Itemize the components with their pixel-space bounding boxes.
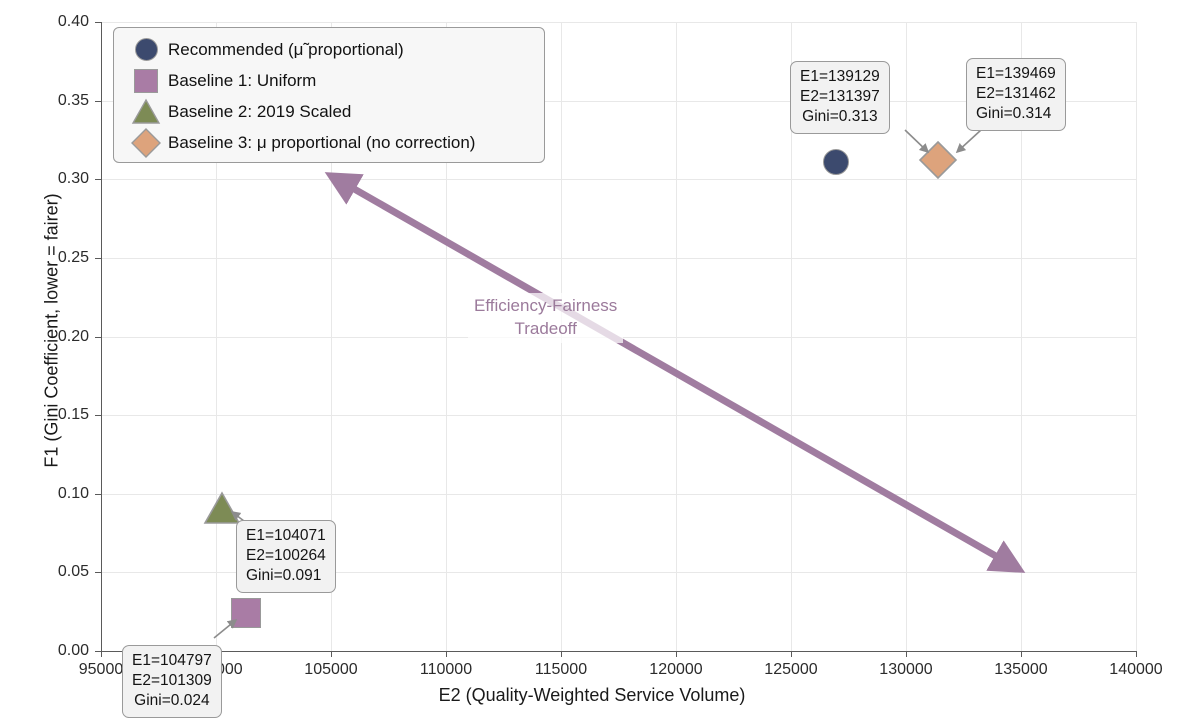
- x-tick-label: 120000: [649, 661, 702, 679]
- scatter-plot-figure: 9500010000010500011000011500012000012500…: [0, 0, 1184, 728]
- x-tick-label: 110000: [420, 661, 472, 679]
- y-tick: [95, 179, 101, 180]
- x-tick: [561, 651, 562, 657]
- legend-label: Baseline 3: μ proportional (no correctio…: [168, 133, 475, 153]
- annotation-recommended: E1=139129 E2=131397 Gini=0.313: [790, 61, 890, 134]
- legend-item-2[interactable]: Baseline 2: 2019 Scaled: [124, 96, 534, 127]
- annot-baseline3-e2: E2=131462: [976, 84, 1056, 104]
- x-tick: [676, 651, 677, 657]
- annot-baseline1-gini: Gini=0.024: [132, 691, 212, 711]
- x-tick: [331, 651, 332, 657]
- annot-baseline2-e1: E1=104071: [246, 526, 326, 546]
- legend-item-0[interactable]: Recommended (μ̃ proportional): [124, 34, 534, 65]
- legend-label: Recommended (μ̃ proportional): [168, 40, 404, 60]
- x-tick-label: 135000: [994, 661, 1047, 679]
- legend-marker-triangle-icon: [124, 99, 168, 124]
- tradeoff-line-1: Efficiency-Fairness: [474, 295, 617, 318]
- y-tick-label: 0.35: [58, 92, 89, 110]
- legend-marker-diamond-icon: [124, 128, 168, 158]
- gridline-vertical: [1136, 22, 1137, 651]
- x-tick: [791, 651, 792, 657]
- tradeoff-line-2: Tradeoff: [474, 318, 617, 341]
- legend-marker-circle-icon: [124, 38, 168, 61]
- y-tick: [95, 494, 101, 495]
- annot-recommended-e1: E1=139129: [800, 67, 880, 87]
- y-axis-spine: [101, 22, 102, 652]
- x-tick: [101, 651, 102, 657]
- x-tick-label: 130000: [879, 661, 932, 679]
- y-tick: [95, 415, 101, 416]
- legend-item-1[interactable]: Baseline 1: Uniform: [124, 65, 534, 96]
- y-tick-label: 0.30: [58, 170, 89, 188]
- y-tick: [95, 651, 101, 652]
- x-tick-label: 95000: [79, 661, 124, 679]
- annot-baseline2-gini: Gini=0.091: [246, 566, 326, 586]
- marker-baseline1: [231, 598, 261, 628]
- y-tick: [95, 22, 101, 23]
- x-tick-label: 115000: [535, 661, 587, 679]
- x-tick-label: 125000: [764, 661, 817, 679]
- annot-baseline1-e2: E2=101309: [132, 671, 212, 691]
- x-tick: [906, 651, 907, 657]
- annotation-baseline1: E1=104797 E2=101309 Gini=0.024: [122, 645, 222, 718]
- y-tick-label: 0.05: [58, 563, 89, 581]
- y-tick-label: 0.10: [58, 485, 89, 503]
- annot-recommended-gini: Gini=0.313: [800, 107, 880, 127]
- legend-label: Baseline 1: Uniform: [168, 71, 316, 91]
- y-tick: [95, 337, 101, 338]
- y-tick: [95, 258, 101, 259]
- annot-recommended-e2: E2=131397: [800, 87, 880, 107]
- y-tick-label: 0.20: [58, 328, 89, 346]
- y-tick-label: 0.15: [58, 406, 89, 424]
- y-tick-label: 0.40: [58, 13, 89, 31]
- x-tick-label: 140000: [1109, 661, 1162, 679]
- annot-baseline3-e1: E1=139469: [976, 64, 1056, 84]
- y-tick-label: 0.00: [58, 642, 89, 660]
- x-tick: [1021, 651, 1022, 657]
- y-axis-label: F1 (Gini Coefficient, lower = fairer): [42, 11, 63, 651]
- annot-baseline3-gini: Gini=0.314: [976, 104, 1056, 124]
- legend-marker-square-icon: [124, 69, 168, 93]
- chart-legend: Recommended (μ̃ proportional)Baseline 1:…: [113, 27, 545, 163]
- y-tick: [95, 572, 101, 573]
- annotation-baseline3: E1=139469 E2=131462 Gini=0.314: [966, 58, 1066, 131]
- legend-label: Baseline 2: 2019 Scaled: [168, 102, 351, 122]
- legend-item-3[interactable]: Baseline 3: μ proportional (no correctio…: [124, 127, 534, 158]
- marker-recommended: [823, 149, 849, 175]
- annot-baseline1-e1: E1=104797: [132, 651, 212, 671]
- tradeoff-annotation-label: Efficiency-Fairness Tradeoff: [468, 293, 623, 343]
- y-tick-label: 0.25: [58, 249, 89, 267]
- annot-baseline2-e2: E2=100264: [246, 546, 326, 566]
- y-tick: [95, 101, 101, 102]
- x-tick: [446, 651, 447, 657]
- x-tick-label: 105000: [304, 661, 357, 679]
- marker-baseline3: [919, 141, 957, 179]
- x-tick: [1136, 651, 1137, 657]
- annotation-baseline2: E1=104071 E2=100264 Gini=0.091: [236, 520, 336, 593]
- x-axis-spine: [101, 651, 1137, 652]
